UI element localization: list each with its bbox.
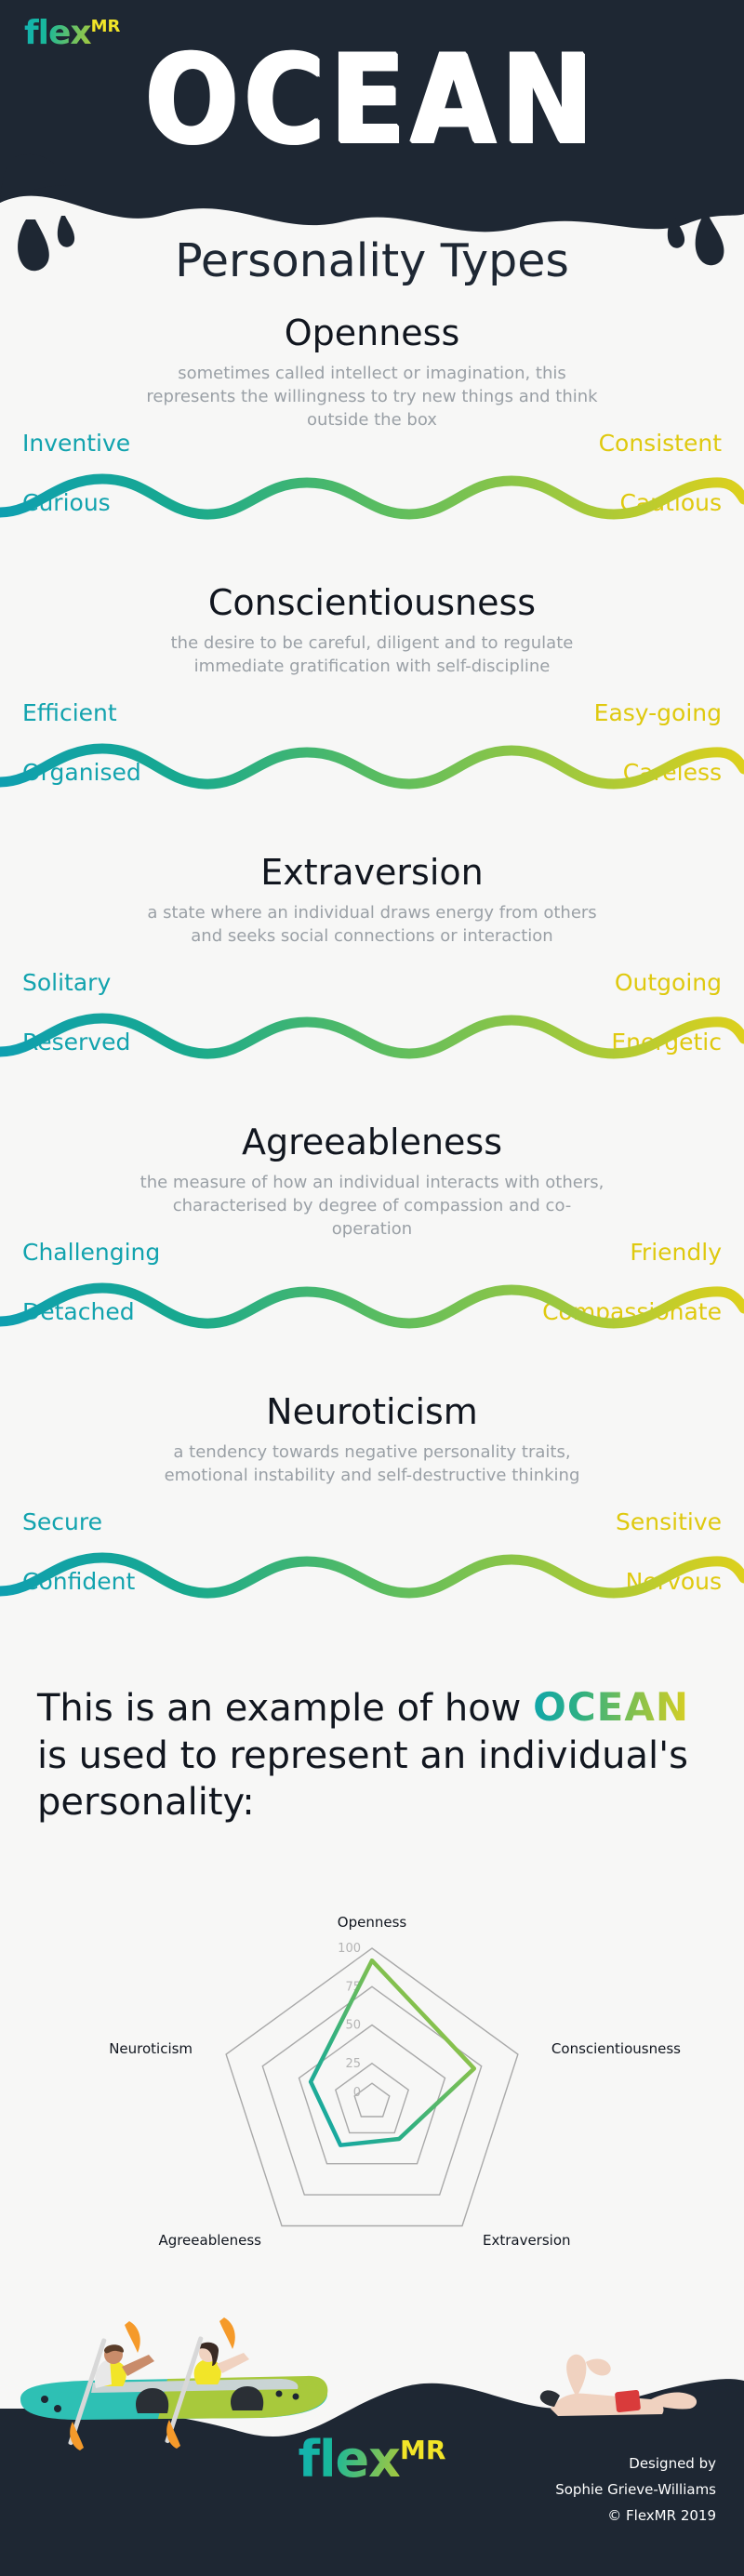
radar-axis-label-neuroticism: Neuroticism bbox=[0, 2040, 193, 2057]
radar-axis-label-extraversion: Extraversion bbox=[483, 2232, 571, 2249]
brand-logo-superscript: MR bbox=[91, 17, 121, 36]
trait-title: Agreeableness bbox=[0, 1122, 744, 1162]
designed-by-label: Designed by bbox=[555, 2451, 716, 2477]
trait-section-conscientiousness: Conscientiousness the desire to be caref… bbox=[0, 558, 744, 828]
copyright-notice: © FlexMR 2019 bbox=[555, 2503, 716, 2530]
trait-section-extraversion: Extraversion a state where an individual… bbox=[0, 828, 744, 1097]
trait-description: the measure of how an individual interac… bbox=[139, 1172, 604, 1241]
brand-logo-footer[interactable]: flexMR bbox=[299, 2435, 446, 2485]
trait-section-agreeableness: Agreeableness the measure of how an indi… bbox=[0, 1097, 744, 1367]
trait-description: sometimes called intellect or imaginatio… bbox=[139, 363, 604, 432]
trait-left-top-label: Challenging bbox=[22, 1239, 160, 1266]
trait-left-top-label: Solitary bbox=[22, 969, 111, 996]
radar-axis-label-agreeableness: Agreeableness bbox=[0, 2232, 261, 2249]
page-title: OCEAN bbox=[0, 38, 744, 161]
trait-wave-line bbox=[0, 1269, 744, 1344]
page-subtitle: Personality Types bbox=[0, 234, 744, 287]
trait-right-top-label: Outgoing bbox=[615, 969, 722, 996]
designer-name: Sophie Grieve-Williams bbox=[555, 2477, 716, 2503]
trait-title: Openness bbox=[0, 312, 744, 353]
trait-right-top-label: Sensitive bbox=[616, 1508, 722, 1535]
radar-axis-label-openness: Openness bbox=[0, 1914, 744, 1931]
trait-wave-line bbox=[0, 1000, 744, 1074]
trait-left-top-label: Secure bbox=[22, 1508, 102, 1535]
radar-axis-label-conscientiousness: Conscientiousness bbox=[551, 2040, 681, 2057]
example-paragraph: This is an example of how OCEAN is used … bbox=[0, 1683, 744, 1826]
example-line3: personality: bbox=[37, 1781, 255, 1824]
trait-description: a state where an individual draws energy… bbox=[139, 902, 604, 949]
footer-banner: flexMR Designed by Sophie Grieve-William… bbox=[0, 2269, 744, 2576]
example-intro: This is an example of how OCEAN is used … bbox=[0, 1683, 744, 1826]
trait-title: Neuroticism bbox=[0, 1391, 744, 1432]
trait-section-neuroticism: Neuroticism a tendency towards negative … bbox=[0, 1367, 744, 1637]
radar-tick-label: 0 bbox=[353, 2086, 361, 2100]
footer-illustration bbox=[0, 2269, 744, 2576]
radar-tick-label: 100 bbox=[338, 1942, 361, 1956]
radar-gridline bbox=[336, 2064, 408, 2133]
trait-section-openness: Openness sometimes called intellect or i… bbox=[0, 288, 744, 558]
trait-wave-line bbox=[0, 1539, 744, 1613]
trait-wave-line bbox=[0, 460, 744, 535]
trait-description: the desire to be careful, diligent and t… bbox=[139, 632, 604, 679]
trait-description: a tendency towards negative personality … bbox=[139, 1441, 604, 1488]
radar-tick-label: 25 bbox=[345, 2057, 361, 2071]
brand-logo-superscript: MR bbox=[400, 2435, 445, 2465]
radar-chart-svg: 0255075100 bbox=[0, 1879, 744, 2269]
example-line2: is used to represent an individual's bbox=[37, 1734, 688, 1777]
radar-chart: 0255075100 Openness Conscientiousness Ex… bbox=[0, 1879, 744, 2269]
radar-series-line bbox=[311, 1960, 474, 2145]
traits-list: Openness sometimes called intellect or i… bbox=[0, 288, 744, 1637]
header-banner: flexMR OCEAN Personality Types bbox=[0, 0, 744, 288]
ocean-highlight: OCEAN bbox=[533, 1684, 689, 1730]
trait-left-top-label: Efficient bbox=[22, 699, 117, 726]
trait-title: Extraversion bbox=[0, 852, 744, 893]
radar-tick-label: 50 bbox=[345, 2019, 361, 2033]
example-line1-before: This is an example of how bbox=[37, 1687, 533, 1730]
trait-right-top-label: Consistent bbox=[599, 430, 722, 457]
trait-wave-line bbox=[0, 730, 744, 804]
swimmer-illustration bbox=[540, 2355, 697, 2416]
trait-title: Conscientiousness bbox=[0, 582, 744, 623]
brand-logo-word: flex bbox=[299, 2430, 400, 2489]
trait-left-top-label: Inventive bbox=[22, 430, 130, 457]
credits-block: Designed by Sophie Grieve-Williams © Fle… bbox=[555, 2451, 716, 2529]
trait-right-top-label: Easy-going bbox=[594, 699, 722, 726]
trait-right-top-label: Friendly bbox=[630, 1239, 722, 1266]
